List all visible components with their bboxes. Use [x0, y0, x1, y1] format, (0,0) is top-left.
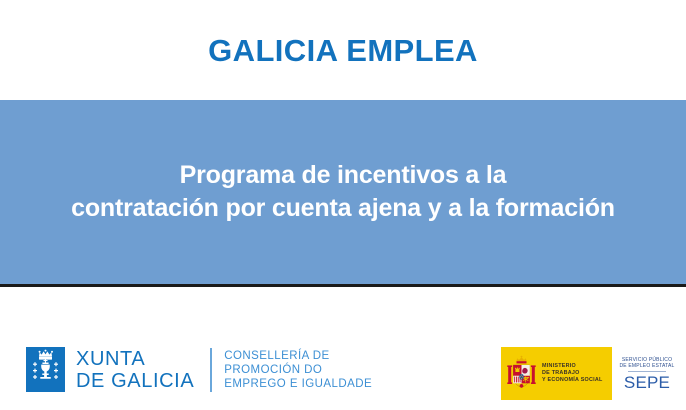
xunta-wordmark-line-1: XUNTA — [76, 348, 194, 370]
conselleria-line-3: EMPREGO E IGUALDADE — [224, 377, 372, 391]
ministerio-wordmark: MINISTERIO DE TRABAJO Y ECONOMÍA SOCIAL — [542, 363, 603, 385]
logo-divider — [210, 348, 212, 392]
conselleria-wordmark: CONSELLERÍA DE PROMOCIÓN DO EMPREGO E IG… — [224, 349, 372, 391]
galicia-coat-of-arms-icon — [26, 347, 65, 392]
sepe-logo: SERVICIO PÚBLICO DE EMPLEO ESTATAL SEPE — [612, 347, 682, 400]
title-area: GALICIA EMPLEA — [0, 0, 686, 100]
program-banner: Programa de incentivos a la contratación… — [0, 100, 686, 287]
footer-logo-strip: XUNTA DE GALICIA CONSELLERÍA DE PROMOCIÓ… — [0, 290, 686, 410]
conselleria-line-1: CONSELLERÍA DE — [224, 349, 372, 363]
xunta-de-galicia-logo: XUNTA DE GALICIA CONSELLERÍA DE PROMOCIÓ… — [26, 347, 372, 392]
xunta-wordmark: XUNTA DE GALICIA — [76, 348, 194, 392]
sepe-acronym: SEPE — [624, 373, 670, 392]
page-title: GALICIA EMPLEA — [208, 35, 478, 66]
banner-subtitle-line-2: contratación por cuenta ajena y a la for… — [71, 192, 615, 225]
spain-coat-of-arms-icon — [506, 355, 537, 393]
sepe-divider — [628, 371, 666, 372]
ministerio-line-2: DE TRABAJO — [542, 370, 603, 377]
ministerio-de-trabajo-logo: MINISTERIO DE TRABAJO Y ECONOMÍA SOCIAL — [501, 347, 612, 400]
conselleria-line-2: PROMOCIÓN DO — [224, 363, 372, 377]
banner-subtitle-line-1: Programa de incentivos a la — [180, 159, 507, 192]
ministerio-line-3: Y ECONOMÍA SOCIAL — [542, 377, 603, 384]
ministerio-line-1: MINISTERIO — [542, 363, 603, 370]
sepe-subtitle-line-2: DE EMPLEO ESTATAL — [619, 363, 674, 369]
xunta-wordmark-line-2: DE GALICIA — [76, 370, 194, 392]
